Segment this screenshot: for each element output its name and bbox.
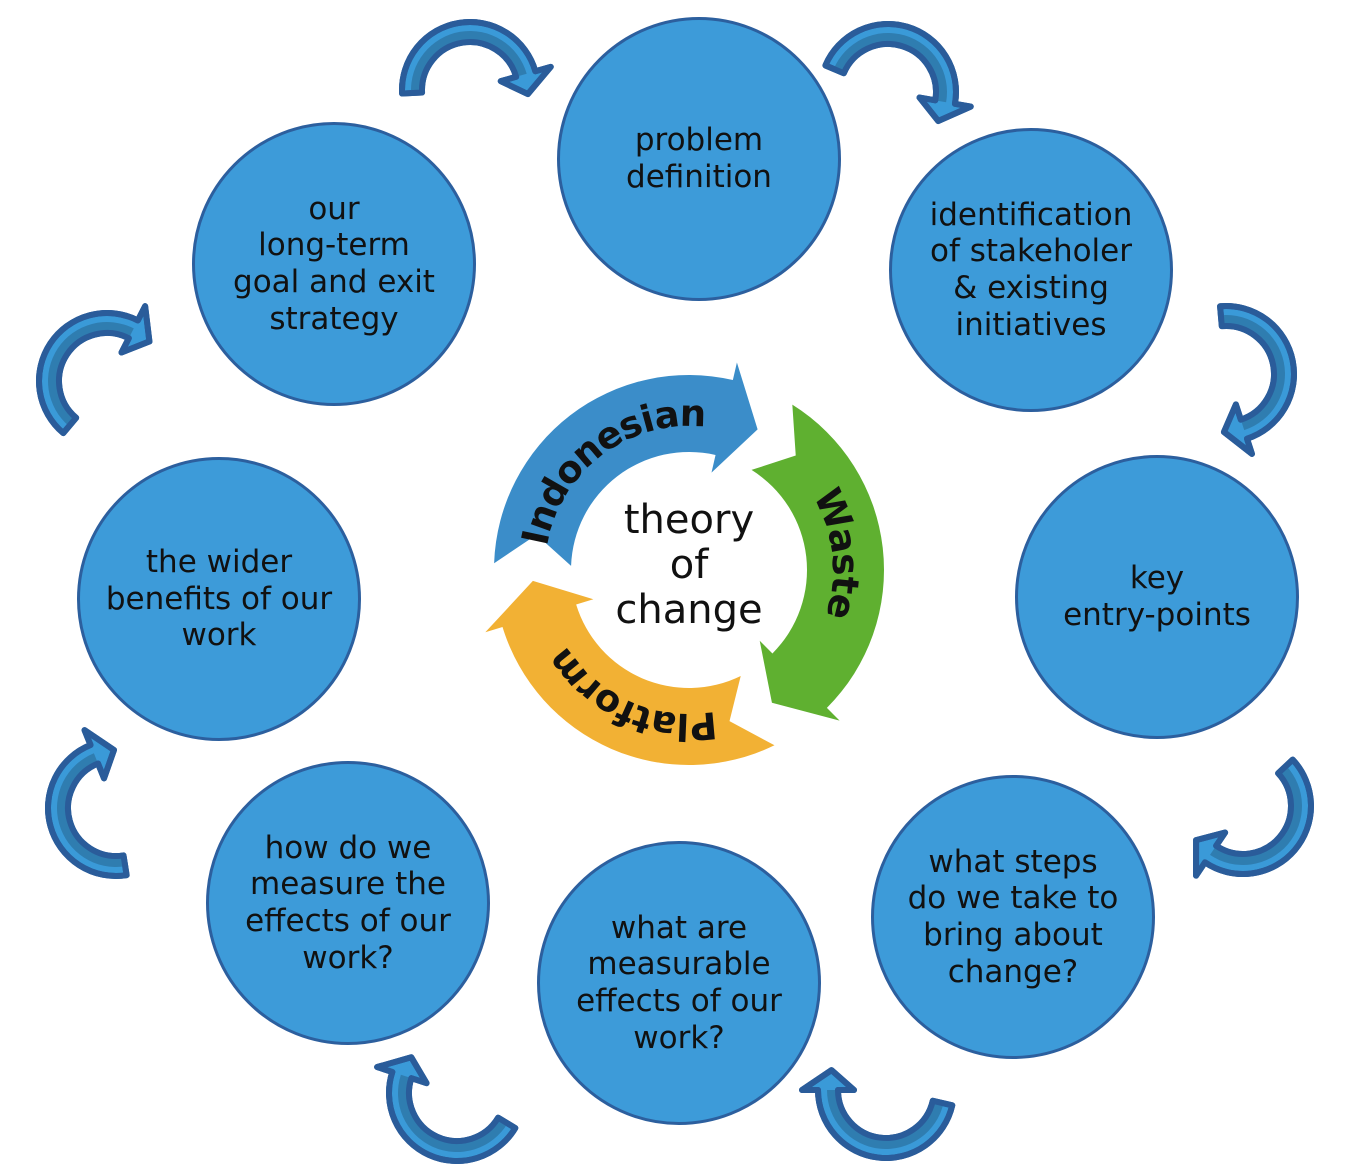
node-label-how-measure-effects: how do we measure the effects of our wor… (245, 830, 451, 976)
node-label-wider-benefits: the wider benefits of our work (106, 544, 332, 654)
node-label-problem-definition: problem definition (626, 122, 772, 195)
node-label-long-term-goal: our long-term goal and exit strategy (233, 191, 435, 337)
node-key-entry-points[interactable]: key entry-points (1015, 455, 1299, 739)
node-wider-benefits[interactable]: the wider benefits of our work (77, 457, 361, 741)
node-what-steps[interactable]: what steps do we take to bring about cha… (871, 775, 1155, 1059)
center-caption: theory of change (569, 498, 809, 632)
node-how-measure-effects[interactable]: how do we measure the effects of our wor… (206, 761, 490, 1045)
node-label-identification: identification of stakeholer & existing … (930, 197, 1133, 343)
node-identification[interactable]: identification of stakeholer & existing … (889, 128, 1173, 412)
theory-of-change-diagram: IndonesianWastePlatform theory of change… (0, 0, 1358, 1164)
node-long-term-goal[interactable]: our long-term goal and exit strategy (192, 122, 476, 406)
node-label-measurable-effects: what are measurable effects of our work? (576, 910, 782, 1056)
node-label-what-steps: what steps do we take to bring about cha… (908, 844, 1119, 990)
node-problem-definition[interactable]: problem definition (557, 17, 841, 301)
node-measurable-effects[interactable]: what are measurable effects of our work? (537, 841, 821, 1125)
node-label-key-entry-points: key entry-points (1063, 560, 1251, 633)
